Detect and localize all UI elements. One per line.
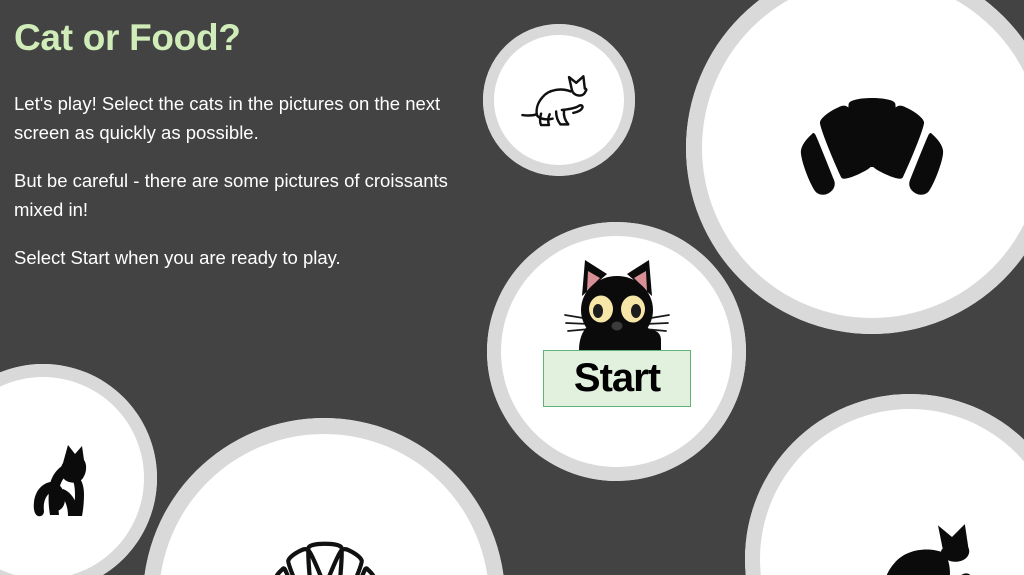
picture-bubble-cat-walking[interactable] (745, 394, 1024, 575)
cat-sitting-solid-icon (32, 442, 94, 518)
intro-paragraph-3: Select Start when you are ready to play. (12, 243, 466, 272)
cat-walking-solid-icon (854, 513, 994, 575)
game-screen: Start Cat or Food? Let's play! Select th… (0, 0, 1024, 575)
start-button-label: Start (574, 358, 660, 398)
croissant-solid-icon (787, 90, 957, 206)
intro-paragraph-2: But be careful - there are some pictures… (12, 166, 466, 224)
croissant-outline-icon (265, 538, 385, 575)
start-button[interactable]: Start (543, 350, 691, 407)
picture-bubble-cat-outline[interactable] (483, 24, 635, 176)
picture-bubble-croissant-solid[interactable] (686, 0, 1024, 334)
picture-bubble-croissant-outline[interactable] (143, 418, 505, 575)
picture-bubble-cat-sitting[interactable] (0, 364, 157, 575)
intro-text-panel: Cat or Food? Let's play! Select the cats… (12, 10, 482, 272)
black-cat-mascot-icon (555, 252, 679, 364)
page-title: Cat or Food? (12, 10, 482, 62)
intro-paragraph-1: Let's play! Select the cats in the pictu… (12, 89, 466, 147)
cat-outline-icon (516, 68, 602, 132)
